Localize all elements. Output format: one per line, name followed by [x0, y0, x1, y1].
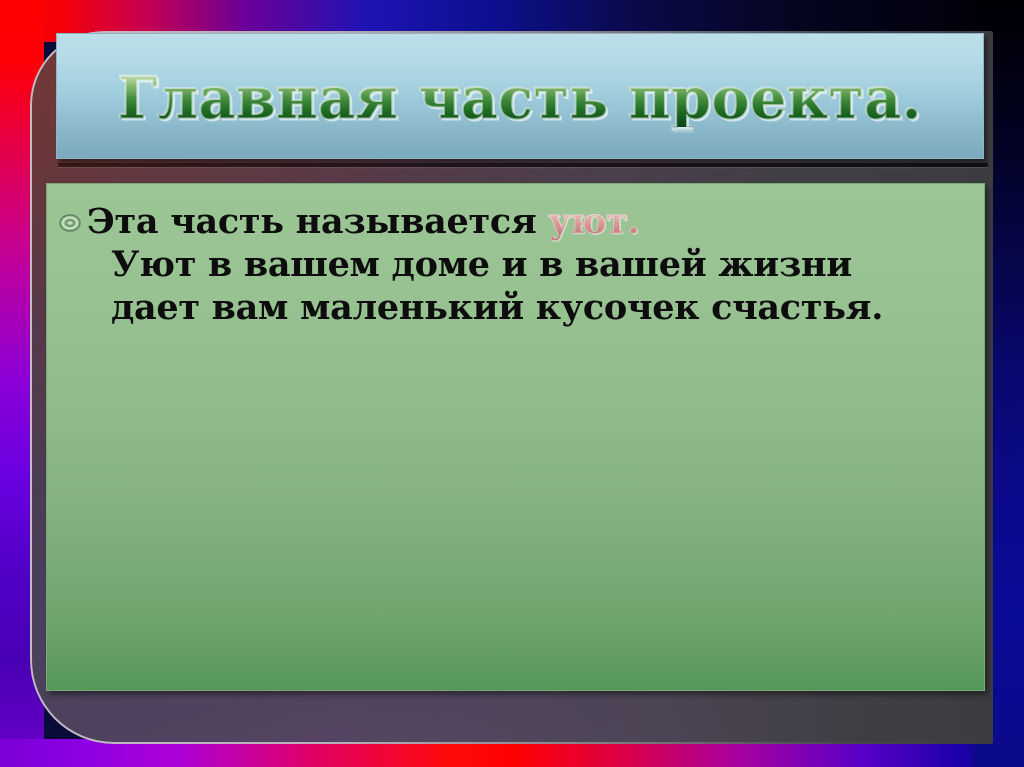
target-circle-bullet-icon [59, 212, 81, 234]
content-line-3: дает вам маленький кусочек счастья. [87, 286, 883, 329]
title-divider [58, 163, 988, 167]
slide-canvas: Главная часть проекта. Эта часть называе… [0, 0, 1024, 767]
content-accent-word: уют. [548, 201, 639, 242]
content-text-block: Эта часть называется уют. Уют в вашем до… [87, 200, 883, 329]
bullet-list-item: Эта часть называется уют. Уют в вашем до… [59, 200, 974, 329]
content-line-1: Эта часть называется уют. [87, 200, 883, 243]
content-panel: Эта часть называется уют. Уют в вашем до… [46, 183, 985, 691]
content-line-2: Уют в вашем доме и в вашей жизни [87, 243, 883, 286]
content-line-1-prefix: Эта часть называется [87, 201, 548, 242]
title-panel: Главная часть проекта. [56, 33, 984, 159]
slide-title: Главная часть проекта. [118, 70, 922, 127]
